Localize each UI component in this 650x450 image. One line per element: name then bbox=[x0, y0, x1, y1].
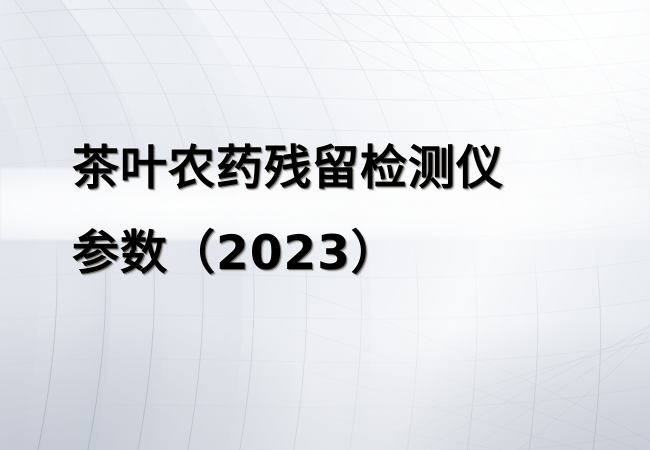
title-banner: 茶叶农药残留检测仪 参数（2023） bbox=[0, 0, 650, 450]
title-line-2: 参数（2023） bbox=[72, 211, 612, 296]
title-line-1: 茶叶农药残留检测仪 bbox=[72, 126, 612, 211]
page-title: 茶叶农药残留检测仪 参数（2023） bbox=[72, 126, 612, 296]
